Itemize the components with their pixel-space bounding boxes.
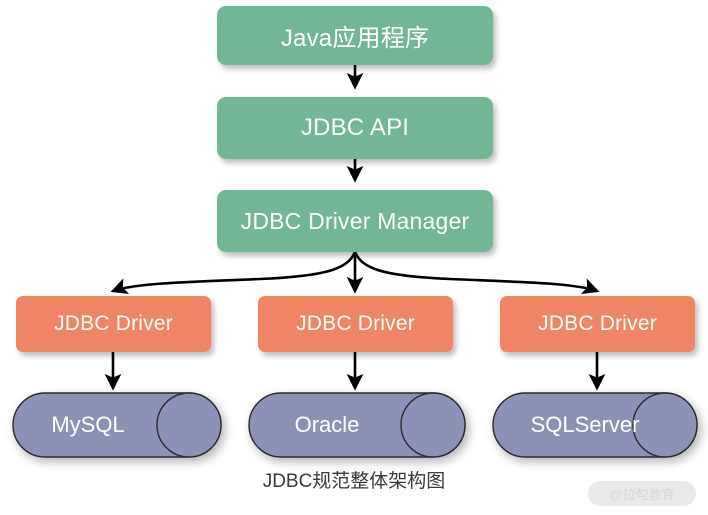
node-jdbc-driver-right-label: JDBC Driver bbox=[538, 312, 657, 336]
node-jdbc-driver-left-label: JDBC Driver bbox=[54, 312, 173, 336]
node-jdbc-api[interactable]: JDBC API bbox=[217, 97, 493, 159]
diagram-canvas: Java应用程序 JDBC API JDBC Driver Manager JD… bbox=[0, 0, 708, 515]
node-database-mysql[interactable]: MySQL bbox=[12, 392, 222, 458]
node-jdbc-driver-left[interactable]: JDBC Driver bbox=[16, 296, 211, 352]
node-database-sqlserver-label: SQLServer bbox=[506, 392, 664, 458]
node-jdbc-driver-center[interactable]: JDBC Driver bbox=[258, 296, 453, 352]
node-jdbc-driver-manager[interactable]: JDBC Driver Manager bbox=[217, 190, 493, 252]
node-jdbc-driver-center-label: JDBC Driver bbox=[296, 312, 415, 336]
node-jdbc-driver-right[interactable]: JDBC Driver bbox=[500, 296, 695, 352]
node-java-application-label: Java应用程序 bbox=[281, 18, 429, 53]
node-java-application[interactable]: Java应用程序 bbox=[217, 6, 493, 65]
node-database-mysql-label: MySQL bbox=[12, 392, 164, 458]
edge-manager-to-driver-right bbox=[355, 252, 597, 291]
node-database-oracle[interactable]: Oracle bbox=[248, 392, 466, 458]
watermark-badge: @拉勾教育 bbox=[588, 481, 696, 506]
edge-manager-to-driver-left bbox=[113, 252, 355, 291]
node-jdbc-api-label: JDBC API bbox=[301, 114, 409, 142]
node-database-sqlserver[interactable]: SQLServer bbox=[492, 392, 698, 458]
node-jdbc-driver-manager-label: JDBC Driver Manager bbox=[241, 208, 470, 235]
node-database-oracle-label: Oracle bbox=[248, 392, 406, 458]
